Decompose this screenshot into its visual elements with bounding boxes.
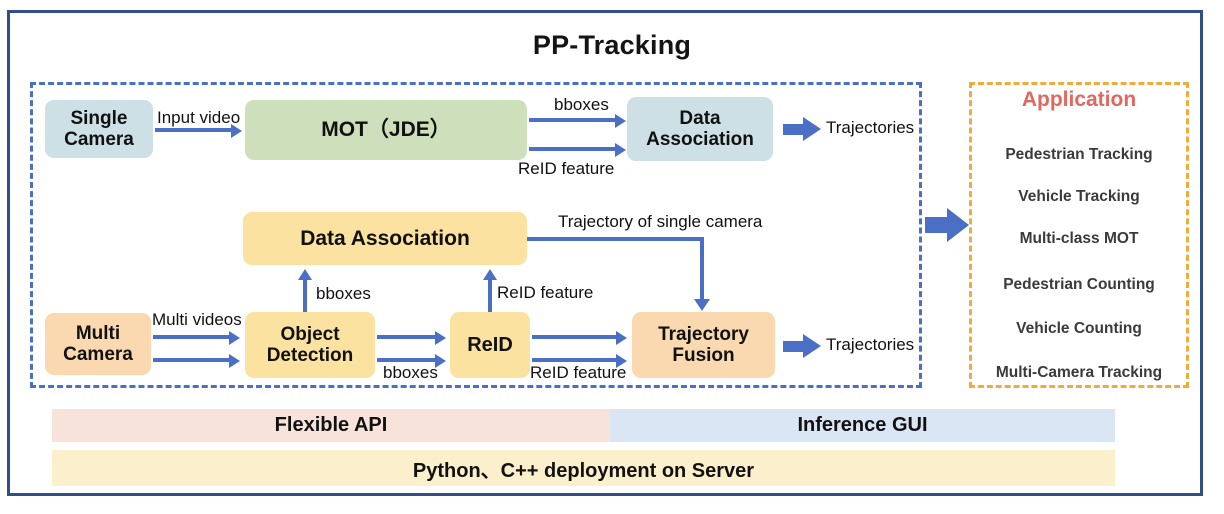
arrow-to-trajectories-top — [783, 117, 823, 141]
arrowhead-mot-reid-feature — [615, 143, 626, 157]
node-mot-jde-label: MOT（JDE） — [321, 118, 451, 142]
node-mot-jde[interactable]: MOT（JDE） — [245, 100, 527, 160]
node-single-camera-line2: Camera — [64, 129, 134, 150]
bar-flexible-api[interactable]: Flexible API — [52, 409, 610, 442]
page-title: PP-Tracking — [0, 30, 1224, 61]
arrow-to-application — [925, 208, 969, 242]
bar-inference-gui[interactable]: Inference GUI — [610, 409, 1115, 442]
node-data-association-single[interactable]: Data Association — [627, 97, 773, 161]
application-item-multi-camera-tracking[interactable]: Multi-Camera Tracking — [969, 364, 1189, 382]
node-reid[interactable]: ReID — [450, 312, 530, 378]
node-multi-camera[interactable]: Multi Camera — [45, 313, 151, 375]
label-bboxes-vertical: bboxes — [316, 284, 371, 304]
arrow-mot-bboxes — [529, 118, 617, 122]
application-item-multi-class-mot[interactable]: Multi-class MOT — [969, 230, 1189, 248]
label-bboxes-bottom: bboxes — [383, 363, 438, 383]
arrow-trajectory-single-camera-horizontal — [527, 237, 704, 241]
arrow-to-trajectories-bottom — [783, 334, 823, 358]
node-single-camera-line1: Single — [70, 108, 127, 129]
arrowhead-single-camera-to-mot — [231, 124, 242, 138]
label-trajectories-bottom: Trajectories — [826, 335, 914, 355]
node-data-association-multi[interactable]: Data Association — [243, 212, 527, 265]
node-data-association-single-line2: Association — [646, 129, 754, 150]
arrowhead-mot-bboxes — [615, 114, 626, 128]
label-multi-videos: Multi videos — [152, 310, 242, 330]
arrow-reid-to-fusion-2 — [532, 358, 618, 362]
application-item-vehicle-counting[interactable]: Vehicle Counting — [969, 320, 1189, 338]
node-trajectory-fusion[interactable]: Trajectory Fusion — [632, 312, 775, 378]
arrow-bboxes-to-data-association — [303, 280, 307, 313]
arrow-mot-reid-feature — [529, 147, 617, 151]
node-object-detection-line2: Detection — [267, 345, 354, 366]
label-reid-feature-top: ReID feature — [518, 159, 614, 179]
node-multi-camera-line1: Multi — [76, 323, 120, 344]
diagram-canvas: PP-Tracking Single Camera Input video MO… — [0, 0, 1224, 514]
arrow-reid-to-fusion-1 — [532, 335, 618, 339]
label-reid-feature-vertical: ReID feature — [497, 283, 593, 303]
label-input-video: Input video — [157, 108, 240, 128]
node-multi-camera-line2: Camera — [63, 344, 133, 365]
arrow-reid-feature-to-data-association — [488, 280, 492, 313]
arrow-multi-camera-to-detection-1 — [153, 335, 231, 339]
application-item-vehicle-tracking[interactable]: Vehicle Tracking — [969, 188, 1189, 206]
arrow-detection-to-reid-1 — [377, 335, 437, 339]
application-item-pedestrian-tracking[interactable]: Pedestrian Tracking — [969, 146, 1189, 164]
arrowhead-trajectory-into-fusion — [694, 299, 710, 311]
label-trajectory-of-single-camera: Trajectory of single camera — [558, 212, 762, 232]
arrowhead-bboxes-to-data-association — [298, 269, 312, 280]
node-object-detection-line1: Object — [280, 324, 339, 345]
label-reid-feature-bottom: ReID feature — [530, 363, 626, 383]
node-trajectory-fusion-line2: Fusion — [672, 345, 734, 366]
application-item-pedestrian-counting[interactable]: Pedestrian Counting — [969, 276, 1189, 294]
node-trajectory-fusion-line1: Trajectory — [658, 324, 749, 345]
arrow-detection-to-reid-2 — [377, 358, 437, 362]
label-bboxes-top: bboxes — [554, 95, 609, 115]
arrow-multi-camera-to-detection-2 — [153, 358, 231, 362]
node-object-detection[interactable]: Object Detection — [245, 312, 375, 378]
arrowhead-multi-camera-to-detection-1 — [229, 331, 240, 345]
arrowhead-reid-feature-to-data-association — [483, 269, 497, 280]
label-trajectories-top: Trajectories — [826, 118, 914, 138]
application-title: Application — [969, 88, 1189, 112]
arrow-single-camera-to-mot — [155, 128, 233, 132]
node-data-association-single-line1: Data — [679, 108, 720, 129]
bar-deployment[interactable]: Python、C++ deployment on Server — [52, 450, 1115, 486]
arrowhead-reid-to-fusion-1 — [616, 331, 627, 345]
arrowhead-multi-camera-to-detection-2 — [229, 354, 240, 368]
node-reid-label: ReID — [467, 334, 513, 356]
bar-flexible-api-label: Flexible API — [275, 414, 388, 437]
node-single-camera[interactable]: Single Camera — [45, 100, 153, 158]
arrowhead-detection-to-reid-1 — [435, 331, 446, 345]
arrow-trajectory-single-camera-vertical — [700, 237, 704, 301]
bar-deployment-label: Python、C++ deployment on Server — [413, 454, 754, 483]
node-data-association-multi-label: Data Association — [300, 227, 470, 251]
bar-inference-gui-label: Inference GUI — [797, 414, 927, 437]
